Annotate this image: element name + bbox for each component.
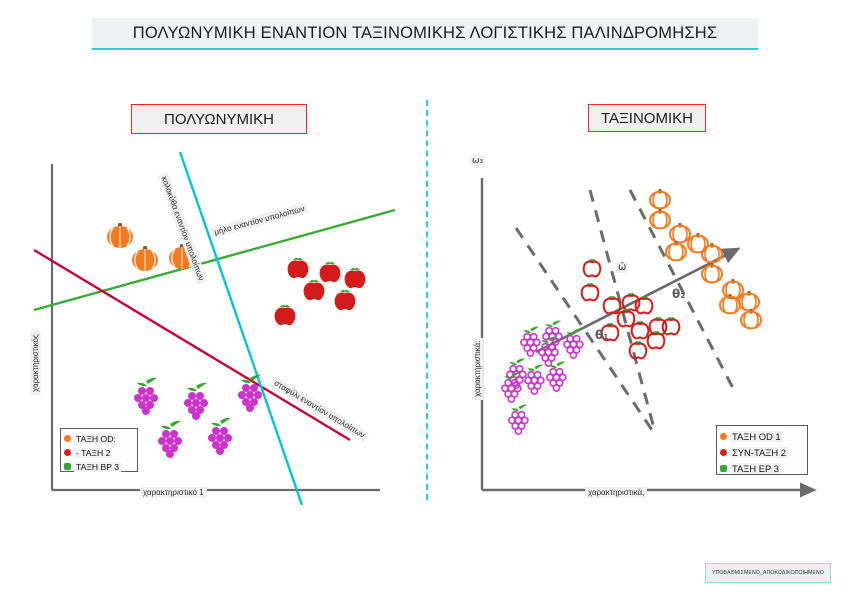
legend-item: ΣΥΝ-ΤΑΞΗ 2 xyxy=(720,445,804,460)
weight-vector-label: ω̄ xyxy=(616,262,628,273)
legend-item: ΤΑΞΗ ΕΡ 3 xyxy=(720,461,804,476)
page-title: ΠΟΛΥΩΝΥΜΙΚΗ ΕΝΑΝΤΙΟΝ ΤΑΞΙΝΟΜΙΚΗΣ ΛΟΓΙΣΤΙ… xyxy=(92,18,758,50)
y-axis-symbol-label: ω₃ xyxy=(470,156,485,166)
right-legend: ΤΑΞΗ OD 1 ΣΥΝ-ΤΑΞΗ 2 ΤΑΞΗ ΕΡ 3 xyxy=(716,425,808,475)
legend-item: ΤΑΞΗ ΒΡ 3 xyxy=(64,460,134,473)
left-legend: ΤΑΞΗ OD: - ΤΑΞΗ 2 ΤΑΞΗ ΒΡ 3 xyxy=(60,428,138,472)
legend-item: ΤΑΞΗ OD 1 xyxy=(720,429,804,444)
pumpkin-swatch-icon xyxy=(720,433,727,440)
data-point-pumpkin xyxy=(650,189,761,328)
left-x-axis-label: χαρακτηριστικό 1 xyxy=(140,487,207,498)
right-x-axis-label: χαρακτηριστικά, xyxy=(585,487,647,498)
data-point-apple xyxy=(275,258,366,325)
right-panel-title: ΤΑΞΙΝΟΜΙΚΗ xyxy=(588,104,706,132)
boundary-line-cyan xyxy=(180,152,302,505)
legend-label: ΤΑΞΗ ΕΡ 3 xyxy=(730,463,781,474)
theta-1-label: θ₁ xyxy=(595,328,609,342)
apple-swatch-icon xyxy=(64,449,71,456)
watermark-badge: ΥΠΟΒΑΘΜΙΣΜΕΝΟ_ΑΠΟΚΩΔΙΚΟΠΟΙΗΜΕΝΟ xyxy=(705,563,831,583)
apple-swatch-icon xyxy=(720,449,727,456)
legend-item: ΤΑΞΗ OD: xyxy=(64,432,134,445)
right-y-axis-label: χαρακτηριστικά: xyxy=(472,338,483,400)
panel-divider xyxy=(426,100,428,500)
legend-label: ΤΑΞΗ OD: xyxy=(74,434,118,444)
data-point-grape xyxy=(134,375,262,458)
left-y-axis-label: χαρακτηριστικός xyxy=(30,331,41,395)
pumpkin-swatch-icon xyxy=(64,435,71,442)
leaf-swatch-icon xyxy=(64,463,71,470)
slide-canvas: ΠΟΛΥΩΝΥΜΙΚΗ ΕΝΑΝΤΙΟΝ ΤΑΞΙΝΟΜΙΚΗΣ ΛΟΓΙΣΤΙ… xyxy=(0,0,849,600)
theta-2-label: θ₂ xyxy=(672,287,686,301)
left-panel-title: ΠΟΛΥΩΝΥΜΙΚΗ xyxy=(131,104,307,134)
legend-label: ΤΑΞΗ ΒΡ 3 xyxy=(74,462,121,472)
data-point-grape xyxy=(502,320,583,434)
legend-label: ΤΑΞΗ OD 1 xyxy=(730,431,783,442)
legend-label: ΣΥΝ-ΤΑΞΗ 2 xyxy=(730,447,788,458)
leaf-swatch-icon xyxy=(720,465,727,472)
legend-item: - ΤΑΞΗ 2 xyxy=(64,446,134,459)
legend-label: - ΤΑΞΗ 2 xyxy=(74,448,112,458)
